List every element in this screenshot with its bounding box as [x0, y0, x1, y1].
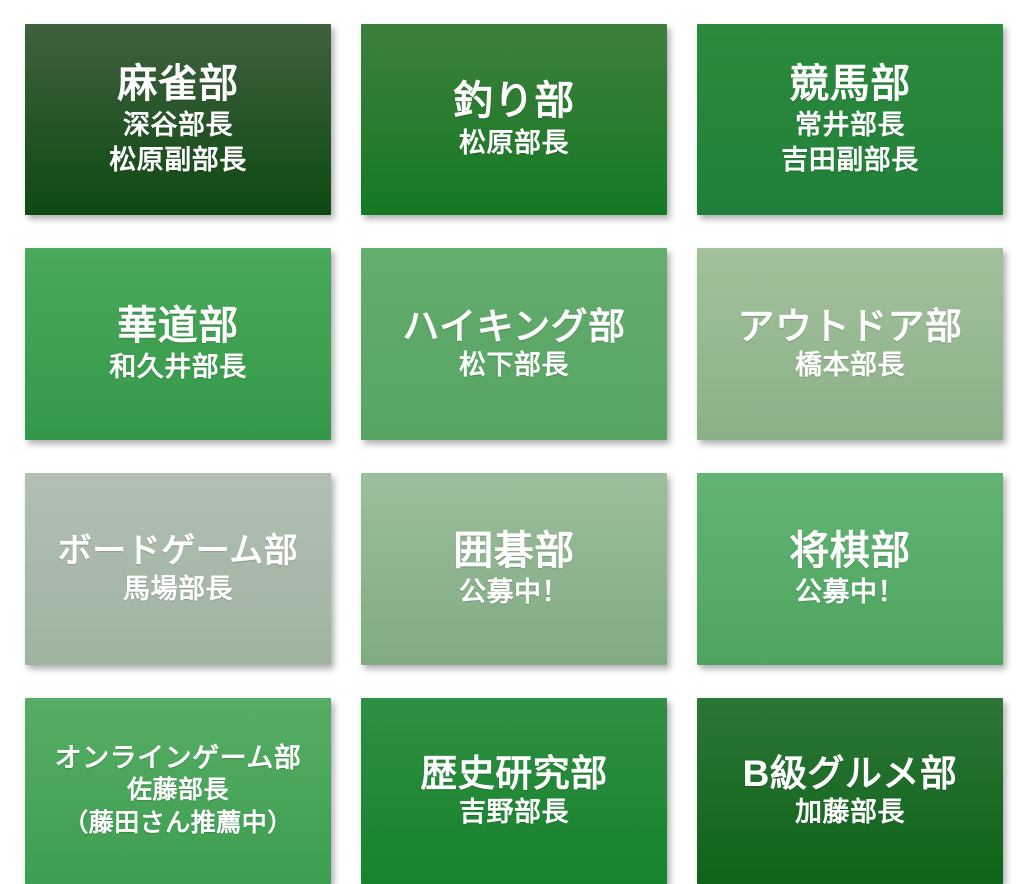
club-card-title: 華道部 [117, 303, 239, 350]
club-card-online-game[interactable]: オンラインゲーム部佐藤部長（藤田さん推薦中） [25, 698, 331, 884]
club-card-member-2: （藤田さん推薦中） [63, 807, 293, 840]
club-card-b-gourmet[interactable]: B級グルメ部加藤部長 [697, 698, 1003, 884]
club-card-mahjong[interactable]: 麻雀部深谷部長松原副部長 [25, 24, 331, 215]
club-card-title: ボードゲーム部 [58, 531, 298, 571]
club-card-member-1: 加藤部長 [795, 795, 905, 830]
club-card-member-1: 常井部長 [795, 108, 905, 143]
club-card-member-1: 和久井部長 [109, 350, 247, 385]
club-card-member-2: 松原副部長 [109, 143, 247, 178]
club-card-member-1: 公募中！ [795, 575, 905, 610]
club-card-ikebana[interactable]: 華道部和久井部長 [25, 248, 331, 440]
club-card-member-1: 佐藤部長 [127, 774, 229, 807]
club-card-member-1: 吉野部長 [459, 795, 569, 830]
club-card-hiking[interactable]: ハイキング部松下部長 [361, 248, 667, 440]
club-card-title: 釣り部 [453, 78, 575, 125]
club-card-history-research[interactable]: 歴史研究部吉野部長 [361, 698, 667, 884]
club-card-igo[interactable]: 囲碁部公募中！ [361, 473, 667, 665]
club-card-title: オンラインゲーム部 [55, 743, 302, 775]
club-card-title: 競馬部 [789, 61, 911, 108]
club-card-shogi[interactable]: 将棋部公募中！ [697, 473, 1003, 665]
club-card-member-1: 公募中！ [459, 575, 569, 610]
club-card-horse-racing[interactable]: 競馬部常井部長吉田副部長 [697, 24, 1003, 215]
club-card-fishing[interactable]: 釣り部松原部長 [361, 24, 667, 215]
club-card-member-2: 吉田副部長 [781, 143, 919, 178]
club-card-board-game[interactable]: ボードゲーム部馬場部長 [25, 473, 331, 665]
club-card-member-1: 深谷部長 [123, 108, 233, 143]
club-card-title: 囲碁部 [453, 528, 575, 575]
club-card-title: ハイキング部 [402, 305, 625, 349]
club-card-title: アウトドア部 [738, 305, 963, 349]
club-card-member-1: 馬場部長 [123, 572, 233, 607]
club-card-member-1: 橋本部長 [795, 348, 905, 383]
club-card-member-1: 松下部長 [459, 348, 569, 383]
club-card-title: 麻雀部 [117, 61, 239, 108]
club-card-title: B級グルメ部 [743, 752, 958, 796]
club-card-title: 歴史研究部 [420, 752, 608, 796]
club-card-title: 将棋部 [789, 528, 911, 575]
club-card-board: 麻雀部深谷部長松原副部長釣り部松原部長競馬部常井部長吉田副部長華道部和久井部長ハ… [0, 0, 1024, 881]
club-card-outdoor[interactable]: アウトドア部橋本部長 [697, 248, 1003, 440]
club-card-member-1: 松原部長 [459, 126, 569, 161]
